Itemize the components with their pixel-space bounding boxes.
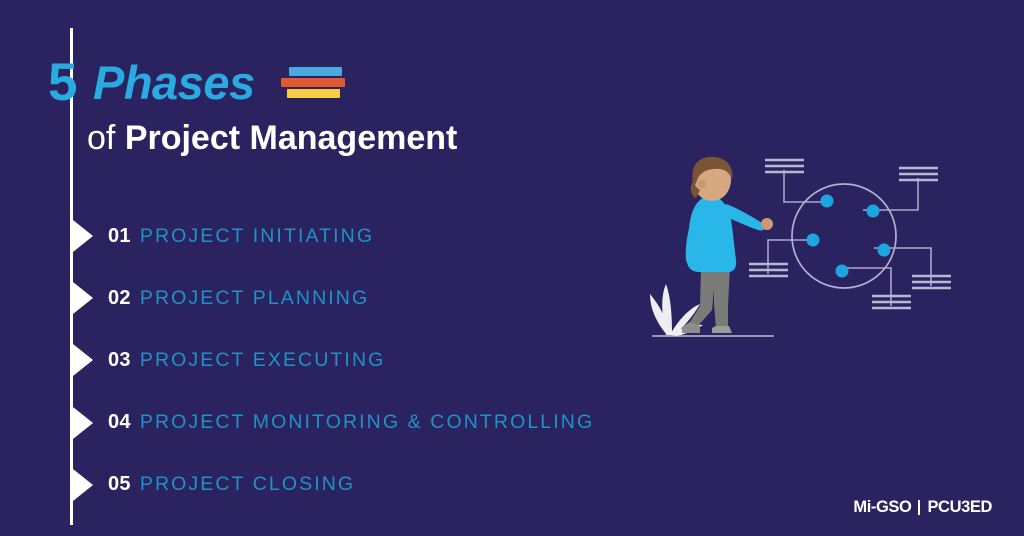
network-node xyxy=(807,234,820,247)
network-node xyxy=(878,244,891,257)
decorative-bar-blue xyxy=(289,67,342,76)
headline-subject: Project Management xyxy=(125,119,458,157)
headline-emphasis: Phases xyxy=(93,59,255,106)
slide-canvas: 5 Phases of Project Management 01 PROJEC… xyxy=(0,0,1024,536)
network-nodes xyxy=(807,195,891,278)
phase-number: 02 xyxy=(108,287,131,310)
phase-number: 04 xyxy=(108,411,131,434)
phase-label: PROJECT MONITORING & CONTROLLING xyxy=(140,411,594,434)
phase-number: 01 xyxy=(108,225,131,248)
phase-label: PROJECT EXECUTING xyxy=(140,349,386,372)
arrow-right-icon xyxy=(73,344,93,376)
phase-number: 03 xyxy=(108,349,131,372)
person-hand xyxy=(761,218,773,230)
headline-connector: of xyxy=(87,119,125,157)
phase-number: 05 xyxy=(108,473,131,496)
arrow-right-icon xyxy=(73,407,93,439)
document-icons xyxy=(749,160,951,308)
list-item[interactable]: 02 PROJECT PLANNING xyxy=(70,267,690,329)
arrow-right-icon xyxy=(73,220,93,252)
phase-label: PROJECT PLANNING xyxy=(140,287,369,310)
logo-primary: Mi-GSO xyxy=(853,499,911,516)
person-back-leg xyxy=(690,268,716,326)
list-item[interactable]: 05 PROJECT CLOSING xyxy=(70,454,690,516)
phase-label: PROJECT INITIATING xyxy=(140,225,374,248)
arrow-right-icon xyxy=(73,282,93,314)
list-item[interactable]: 04 PROJECT MONITORING & CONTROLLING xyxy=(70,392,690,454)
headline-secondary-row: of Project Management xyxy=(87,118,457,159)
network-node xyxy=(867,205,880,218)
network-node xyxy=(821,195,834,208)
logo-secondary: PCU3ED xyxy=(927,499,992,516)
headline-number: 5 xyxy=(48,56,77,109)
headline-block: 5 Phases of Project Management xyxy=(48,52,688,164)
person-front-shoe xyxy=(712,326,732,333)
list-item[interactable]: 03 PROJECT EXECUTING xyxy=(70,329,690,391)
decorative-bar-orange xyxy=(281,78,345,87)
list-item[interactable]: 01 PROJECT INITIATING xyxy=(70,205,690,267)
illustration-network-diagram xyxy=(646,138,976,353)
phase-list: 01 PROJECT INITIATING 02 PROJECT PLANNIN… xyxy=(70,205,690,516)
headline-primary-row: 5 Phases xyxy=(48,52,345,112)
person-front-leg xyxy=(714,266,730,328)
arrow-right-icon xyxy=(73,469,93,501)
person-ear xyxy=(698,180,706,188)
network-node xyxy=(836,265,849,278)
brand-logo: Mi-GSO PCU3ED xyxy=(853,498,992,516)
logo-divider xyxy=(918,500,920,515)
phase-label: PROJECT CLOSING xyxy=(140,473,355,496)
decorative-bar-yellow xyxy=(287,89,340,98)
decorative-bar-stack-icon xyxy=(277,66,345,102)
